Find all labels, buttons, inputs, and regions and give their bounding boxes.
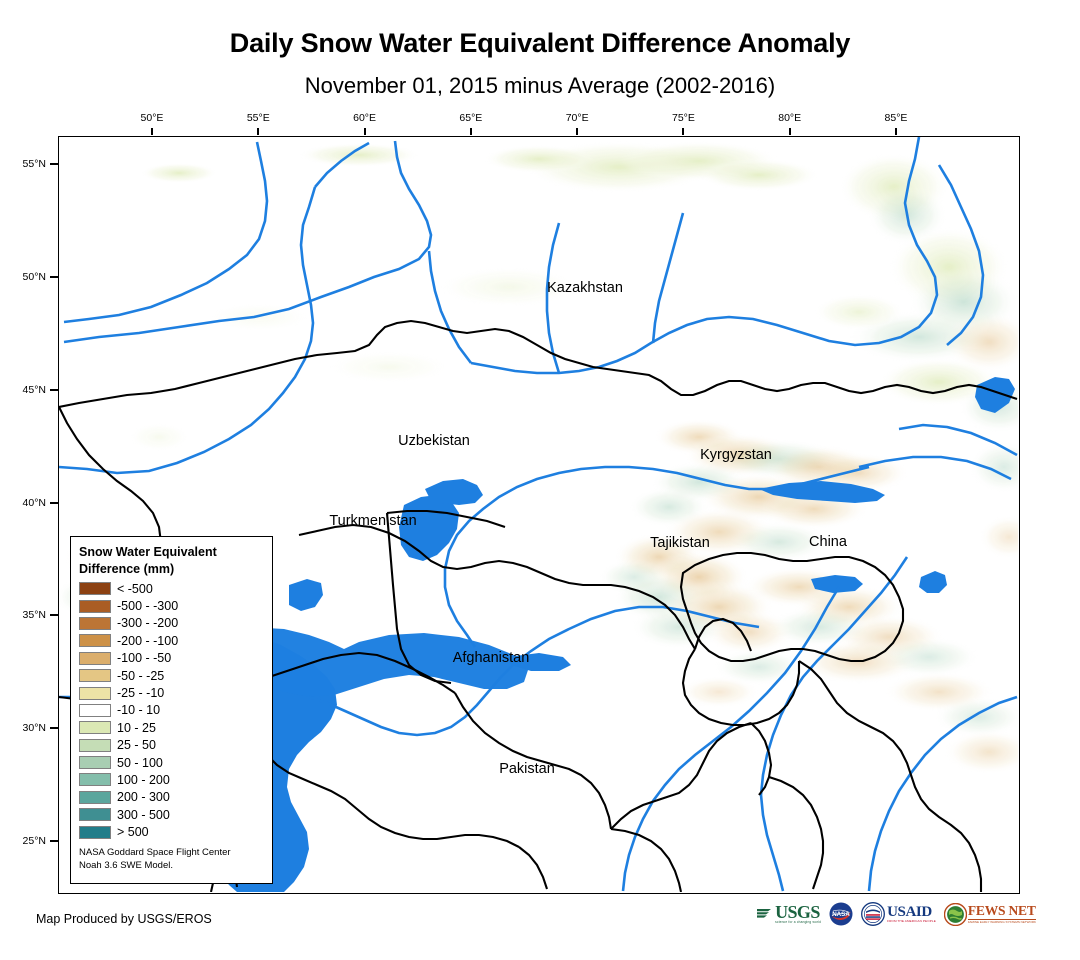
latitude-tick-mark bbox=[50, 502, 58, 504]
legend-entry: 25 - 50 bbox=[79, 737, 264, 754]
longitude-tick-mark bbox=[257, 128, 259, 135]
nasa-logo: NASA bbox=[829, 902, 853, 926]
longitude-tick-mark bbox=[364, 128, 366, 135]
longitude-tick-mark bbox=[895, 128, 897, 135]
longitude-tick-label: 65°E bbox=[459, 112, 482, 124]
latitude-tick-label: 40°N bbox=[10, 497, 46, 509]
legend-swatch bbox=[79, 669, 111, 682]
longitude-tick-label: 60°E bbox=[353, 112, 376, 124]
legend-source-line1: NASA Goddard Space Flight Center bbox=[79, 847, 264, 860]
latitude-tick-label: 35°N bbox=[10, 609, 46, 621]
longitude-tick-mark bbox=[470, 128, 472, 135]
legend-label: -300 - -200 bbox=[117, 616, 178, 630]
legend-entry: -25 - -10 bbox=[79, 684, 264, 701]
fews-wordmark: FEWS NET bbox=[968, 904, 1036, 920]
country-label-pakistan: Pakistan bbox=[499, 761, 555, 777]
legend-source-line2: Noah 3.6 SWE Model. bbox=[79, 860, 264, 873]
page-subtitle: November 01, 2015 minus Average (2002-20… bbox=[0, 73, 1080, 99]
legend-label: 200 - 300 bbox=[117, 790, 170, 804]
country-label-kazakhstan: Kazakhstan bbox=[547, 280, 623, 296]
latitude-tick-label: 25°N bbox=[10, 835, 46, 847]
legend-swatch bbox=[79, 582, 111, 595]
legend-entry: -200 - -100 bbox=[79, 632, 264, 649]
legend-label: -50 - -25 bbox=[117, 669, 164, 683]
legend-label: > 500 bbox=[117, 825, 149, 839]
longitude-tick-label: 80°E bbox=[778, 112, 801, 124]
legend-label: 10 - 25 bbox=[117, 721, 156, 735]
legend-title: Snow Water Equivalent Difference (mm) bbox=[79, 544, 264, 577]
legend-entry: -50 - -25 bbox=[79, 667, 264, 684]
country-label-kyrgyzstan: Kyrgyzstan bbox=[700, 447, 772, 463]
legend-label: < -500 bbox=[117, 582, 153, 596]
nasa-wordmark: NASA bbox=[832, 911, 850, 918]
country-label-afghanistan: Afghanistan bbox=[453, 650, 530, 666]
latitude-tick-label: 45°N bbox=[10, 384, 46, 396]
legend-entries: < -500-500 - -300-300 - -200-200 - -100-… bbox=[79, 580, 264, 841]
legend-entry: -500 - -300 bbox=[79, 597, 264, 614]
legend-swatch bbox=[79, 687, 111, 700]
logo-bar: USGS science for a changing world NASA U… bbox=[756, 902, 1036, 926]
legend-swatch bbox=[79, 652, 111, 665]
legend-entry: 10 - 25 bbox=[79, 719, 264, 736]
legend-entry: -100 - -50 bbox=[79, 650, 264, 667]
usgs-tagline: science for a changing world bbox=[775, 921, 821, 924]
latitude-tick-label: 30°N bbox=[10, 722, 46, 734]
map-legend: Snow Water Equivalent Difference (mm) < … bbox=[70, 536, 273, 884]
legend-label: 300 - 500 bbox=[117, 808, 170, 822]
longitude-tick-label: 85°E bbox=[885, 112, 908, 124]
legend-swatch bbox=[79, 739, 111, 752]
usaid-logo: USAID FROM THE AMERICAN PEOPLE bbox=[861, 902, 936, 926]
legend-swatch bbox=[79, 721, 111, 734]
latitude-tick-mark bbox=[50, 389, 58, 391]
legend-label: -25 - -10 bbox=[117, 686, 164, 700]
longitude-tick-label: 55°E bbox=[247, 112, 270, 124]
longitude-tick-label: 70°E bbox=[566, 112, 589, 124]
legend-swatch bbox=[79, 826, 111, 839]
legend-entry: -300 - -200 bbox=[79, 615, 264, 632]
legend-entry: 50 - 100 bbox=[79, 754, 264, 771]
legend-entry: 200 - 300 bbox=[79, 789, 264, 806]
latitude-tick-mark bbox=[50, 163, 58, 165]
fews-tagline: FAMINE EARLY WARNING SYSTEMS NETWORK bbox=[968, 921, 1036, 924]
legend-label: -100 - -50 bbox=[117, 651, 171, 665]
usaid-seal-icon bbox=[861, 902, 885, 926]
legend-swatch bbox=[79, 808, 111, 821]
legend-label: 50 - 100 bbox=[117, 756, 163, 770]
legend-swatch bbox=[79, 600, 111, 613]
legend-swatch bbox=[79, 634, 111, 647]
usgs-wave-icon bbox=[756, 906, 773, 922]
usgs-wordmark: USGS bbox=[775, 903, 821, 921]
longitude-tick-label: 50°E bbox=[141, 112, 164, 124]
usaid-wordmark: USAID bbox=[887, 905, 936, 920]
latitude-tick-mark bbox=[50, 840, 58, 842]
legend-label: -500 - -300 bbox=[117, 599, 178, 613]
legend-swatch bbox=[79, 617, 111, 630]
longitude-tick-mark bbox=[789, 128, 791, 135]
fews-net-logo: FEWS NET FAMINE EARLY WARNING SYSTEMS NE… bbox=[944, 903, 1036, 926]
country-label-turkmenistan: Turkmenistan bbox=[329, 513, 416, 529]
usaid-tagline: FROM THE AMERICAN PEOPLE bbox=[887, 920, 936, 923]
legend-swatch bbox=[79, 791, 111, 804]
legend-entry: > 500 bbox=[79, 823, 264, 840]
legend-title-line1: Snow Water Equivalent bbox=[79, 544, 264, 561]
latitude-tick-mark bbox=[50, 614, 58, 616]
country-label-uzbekistan: Uzbekistan bbox=[398, 433, 470, 449]
page-title: Daily Snow Water Equivalent Difference A… bbox=[0, 28, 1080, 59]
legend-entry: 100 - 200 bbox=[79, 771, 264, 788]
legend-swatch bbox=[79, 756, 111, 769]
legend-label: -10 - 10 bbox=[117, 703, 160, 717]
latitude-tick-label: 55°N bbox=[10, 158, 46, 170]
longitude-tick-mark bbox=[151, 128, 153, 135]
legend-label: 100 - 200 bbox=[117, 773, 170, 787]
latitude-tick-label: 50°N bbox=[10, 271, 46, 283]
legend-entry: 300 - 500 bbox=[79, 806, 264, 823]
legend-title-line2: Difference (mm) bbox=[79, 561, 264, 578]
country-label-china: China bbox=[809, 534, 847, 550]
longitude-tick-label: 75°E bbox=[672, 112, 695, 124]
legend-swatch bbox=[79, 773, 111, 786]
fews-globe-icon bbox=[944, 903, 967, 926]
longitude-tick-mark bbox=[576, 128, 578, 135]
latitude-tick-mark bbox=[50, 727, 58, 729]
longitude-tick-mark bbox=[682, 128, 684, 135]
usgs-logo: USGS science for a changing world bbox=[756, 903, 821, 924]
nasa-meatball-icon: NASA bbox=[829, 902, 853, 926]
legend-source: NASA Goddard Space Flight Center Noah 3.… bbox=[79, 847, 264, 873]
legend-label: 25 - 50 bbox=[117, 738, 156, 752]
latitude-tick-mark bbox=[50, 276, 58, 278]
country-label-tajikistan: Tajikistan bbox=[650, 535, 710, 551]
legend-entry: < -500 bbox=[79, 580, 264, 597]
legend-swatch bbox=[79, 704, 111, 717]
legend-label: -200 - -100 bbox=[117, 634, 178, 648]
map-credit: Map Produced by USGS/EROS bbox=[36, 912, 212, 926]
legend-entry: -10 - 10 bbox=[79, 702, 264, 719]
